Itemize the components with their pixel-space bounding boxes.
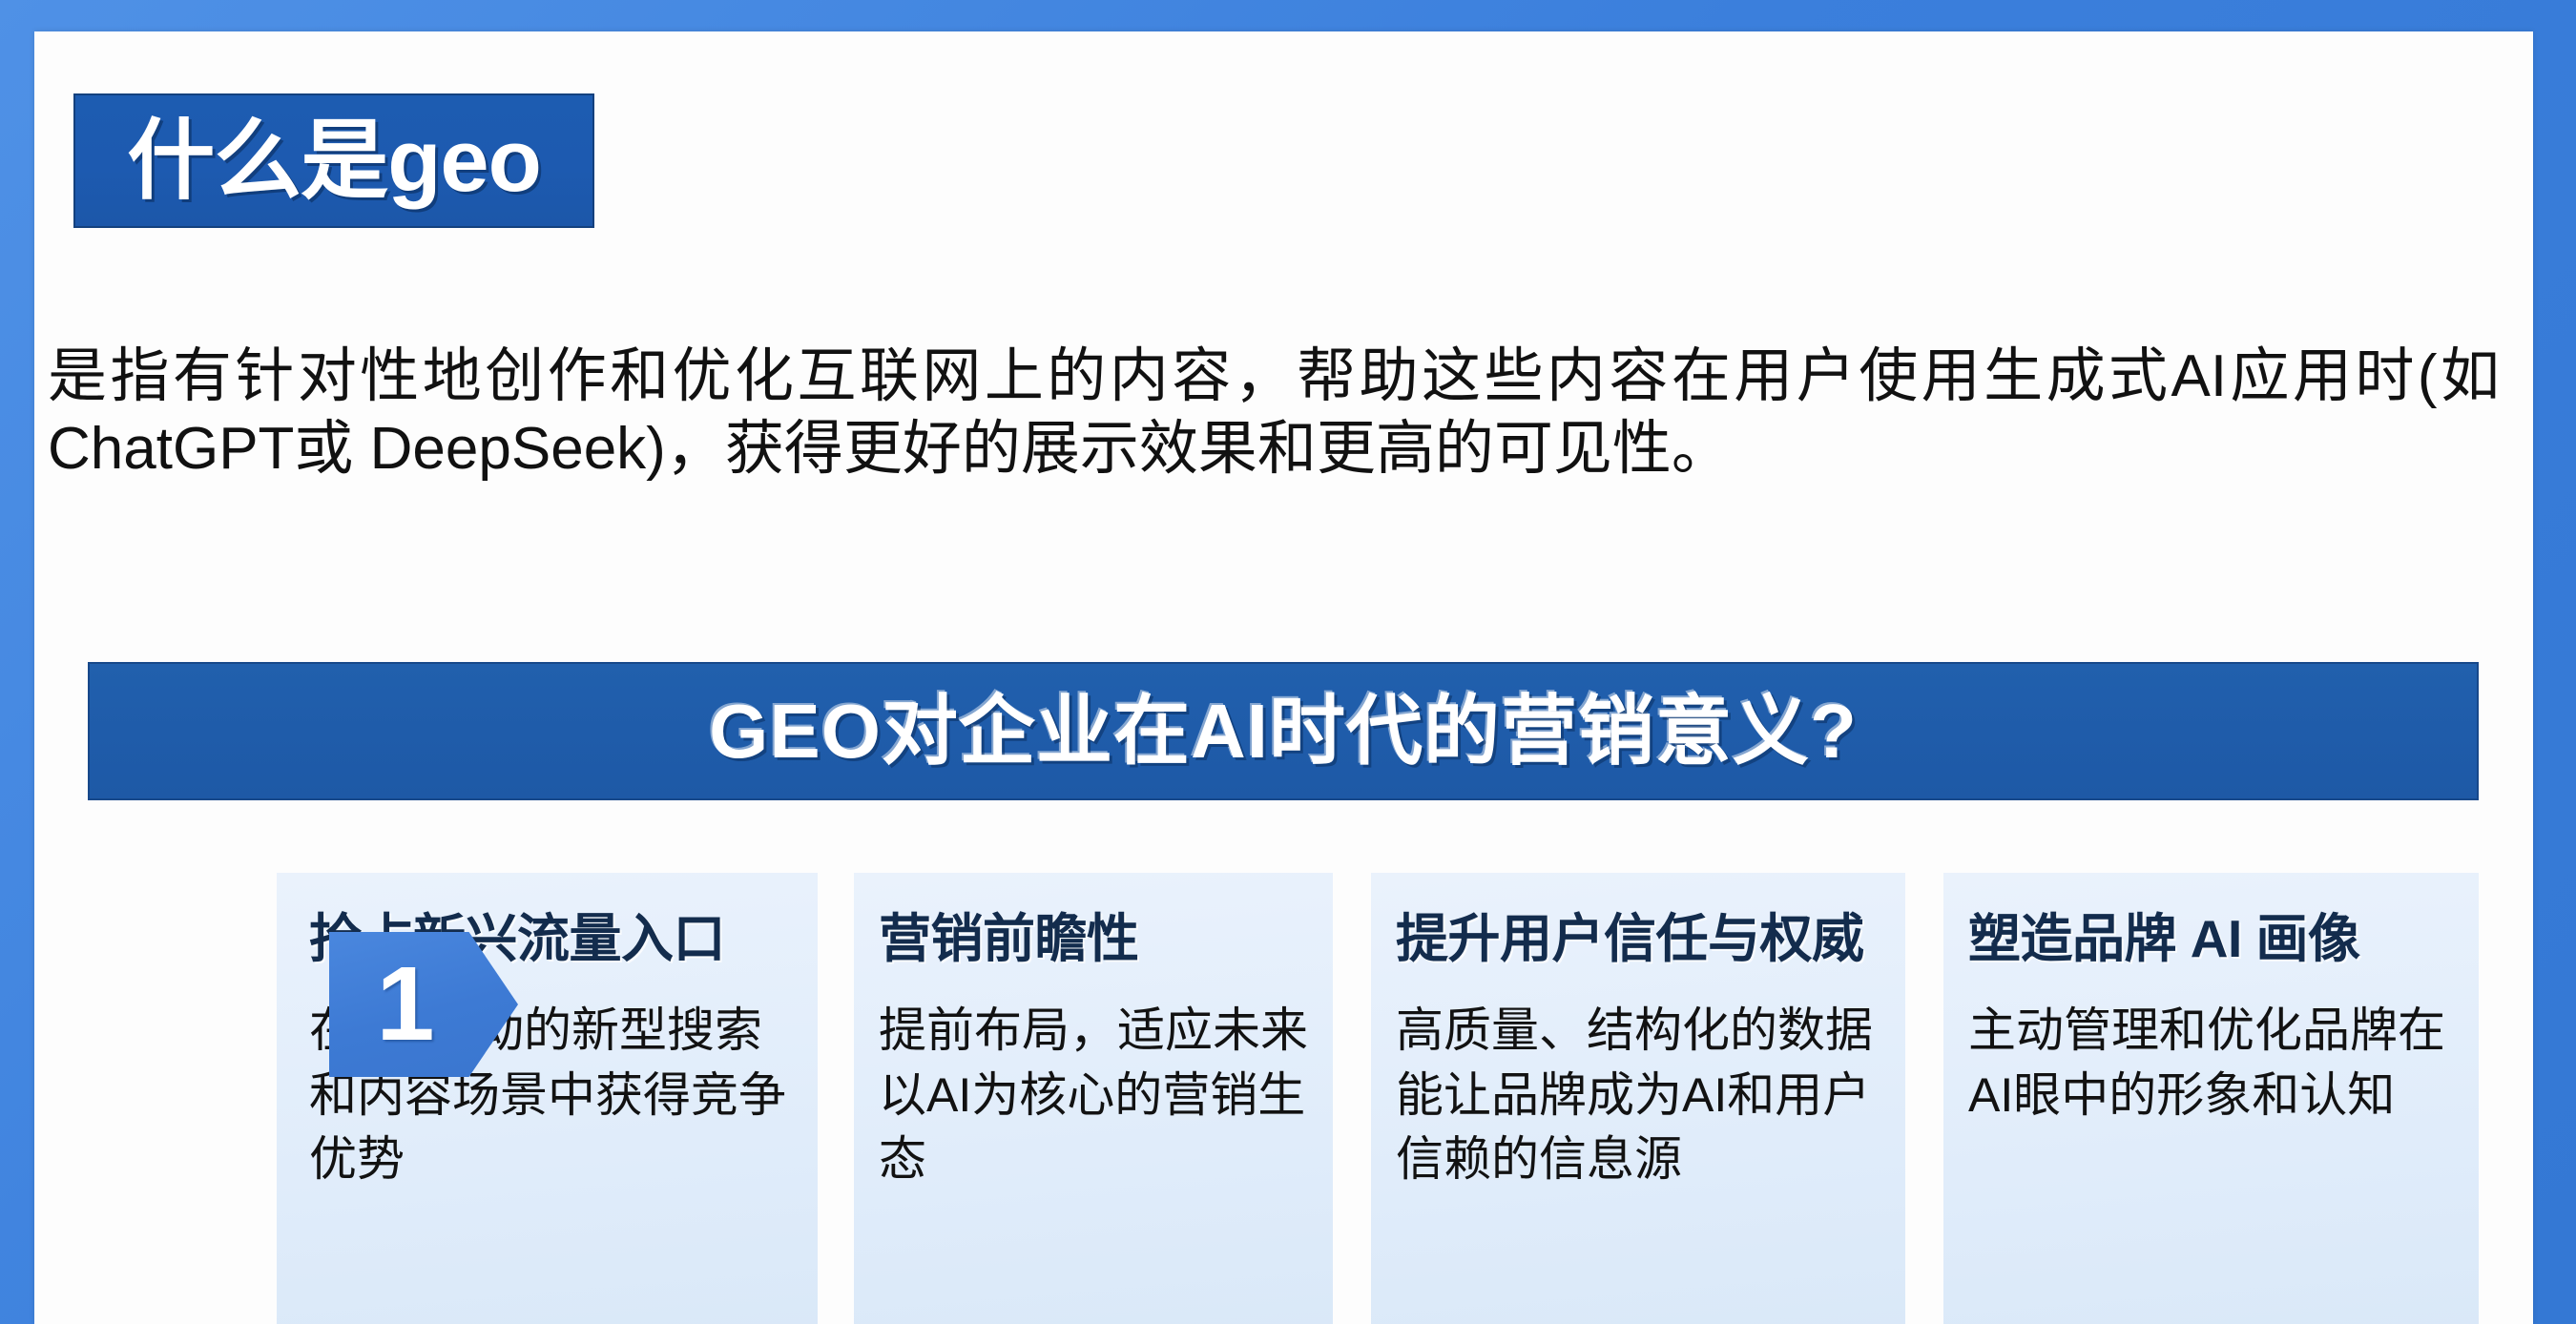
benefit-card-4-title: 塑造品牌 AI 画像 (1968, 911, 2454, 967)
benefit-card-2: 营销前瞻性 提前布局，适应未来以AI为核心的营销生态 (854, 873, 1333, 1324)
benefit-card-3-title: 提升用户信任与权威 (1396, 911, 1880, 967)
benefit-card-3: 提升用户信任与权威 高质量、结构化的数据能让品牌成为AI和用户信赖的信息源 (1371, 873, 1905, 1324)
benefit-card-2-body: 提前布局，适应未来以AI为核心的营销生态 (879, 999, 1308, 1192)
section-banner: GEO对企业在AI时代的营销意义? (88, 662, 2479, 800)
number-badge-label: 1 (376, 952, 470, 1057)
benefit-cards-row: 1 抢占新兴流量入口 在 AI 驱动的新型搜索和内容场景中获得竞争优势 营销前瞻… (34, 838, 2533, 1324)
intro-paragraph: 是指有针对性地创作和优化互联网上的内容，帮助这些内容在用户使用生成式AI应用时(… (48, 341, 2500, 485)
benefit-card-3-body: 高质量、结构化的数据能让品牌成为AI和用户信赖的信息源 (1396, 999, 1880, 1192)
benefit-card-2-title: 营销前瞻性 (879, 911, 1308, 967)
section-banner-title: GEO对企业在AI时代的营销意义? (709, 693, 1858, 770)
slide-canvas: 什么是geo 是指有针对性地创作和优化互联网上的内容，帮助这些内容在用户使用生成… (0, 0, 2576, 1324)
page-title-badge: 什么是geo (73, 93, 594, 228)
benefit-card-4: 塑造品牌 AI 画像 主动管理和优化品牌在AI眼中的形象和认知 (1943, 873, 2479, 1324)
page-title: 什么是geo (127, 117, 541, 205)
slide-page: 什么是geo 是指有针对性地创作和优化互联网上的内容，帮助这些内容在用户使用生成… (34, 31, 2533, 1324)
benefit-card-1: 1 抢占新兴流量入口 在 AI 驱动的新型搜索和内容场景中获得竞争优势 (277, 873, 818, 1324)
benefit-card-4-body: 主动管理和优化品牌在AI眼中的形象和认知 (1968, 999, 2454, 1127)
